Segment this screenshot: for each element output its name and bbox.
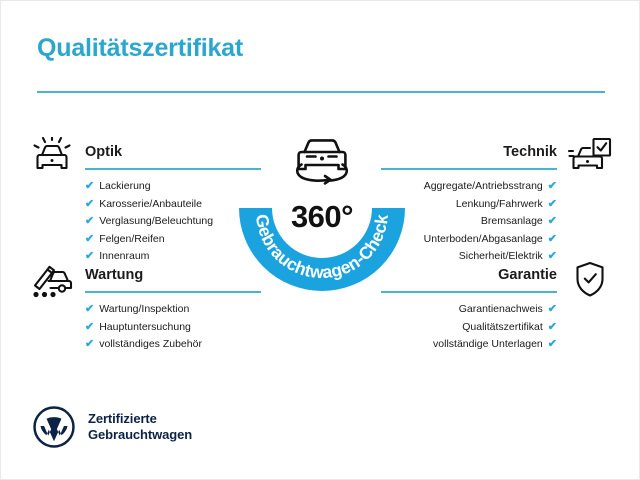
list-item: ✔vollständiges Zubehör	[29, 336, 261, 354]
list-item: ✔Lackierung	[29, 178, 261, 196]
list-item-label: vollständiges Zubehör	[99, 336, 202, 354]
vw-logo-icon	[33, 406, 75, 448]
check-icon: ✔	[548, 339, 557, 350]
check-icon: ✔	[85, 216, 94, 227]
list-item-label: Qualitätszertifikat	[462, 319, 543, 337]
check-icon: ✔	[85, 181, 94, 192]
check-icon: ✔	[85, 322, 94, 333]
list-item-label: Lenkung/Fahrwerk	[456, 196, 543, 214]
list-item-label: Sicherheit/Elektrik	[459, 248, 543, 266]
check-icon: ✔	[85, 304, 94, 315]
checklist-garantie: Garantienachweis✔ Qualitätszertifikat✔ v…	[381, 301, 613, 354]
section-title: Optik	[29, 141, 261, 163]
brand-line-2: Gebrauchtwagen	[88, 427, 192, 443]
check-icon: ✔	[548, 251, 557, 262]
check-icon: ✔	[85, 339, 94, 350]
list-item: ✔Hauptuntersuchung	[29, 319, 261, 337]
check-icon: ✔	[85, 251, 94, 262]
check-icon: ✔	[548, 181, 557, 192]
list-item: ✔Wartung/Inspektion	[29, 301, 261, 319]
list-item-label: Garantienachweis	[459, 301, 543, 319]
check-icon: ✔	[548, 322, 557, 333]
checklist-optik: ✔Lackierung ✔Karosserie/Anbauteile ✔Verg…	[29, 178, 261, 266]
list-item-label: Wartung/Inspektion	[99, 301, 189, 319]
list-item: Lenkung/Fahrwerk✔	[381, 196, 613, 214]
list-item: ✔Felgen/Reifen	[29, 231, 261, 249]
list-item-label: Hauptuntersuchung	[99, 319, 191, 337]
check-icon: ✔	[85, 199, 94, 210]
list-item-label: vollständige Unterlagen	[433, 336, 543, 354]
section-optik: Optik ✔Lackierung ✔Karosserie/Anbauteile…	[29, 141, 261, 266]
section-title: Wartung	[29, 264, 261, 286]
section-title: Technik	[381, 141, 613, 163]
list-item: Bremsanlage✔	[381, 213, 613, 231]
title-divider	[37, 91, 605, 93]
list-item-label: Bremsanlage	[481, 213, 543, 231]
certificate-page: Qualitätszertifikat Optik ✔Lackierung ✔K…	[0, 0, 640, 480]
list-item: Qualitätszertifikat✔	[381, 319, 613, 337]
check-icon: ✔	[548, 216, 557, 227]
list-item: Garantienachweis✔	[381, 301, 613, 319]
list-item-label: Karosserie/Anbauteile	[99, 196, 202, 214]
list-item-label: Lackierung	[99, 178, 150, 196]
header: Qualitätszertifikat	[37, 35, 605, 63]
list-item-label: Unterboden/Abgasanlage	[424, 231, 543, 249]
page-title: Qualitätszertifikat	[37, 35, 605, 63]
list-item: Aggregate/Antriebsstrang✔	[381, 178, 613, 196]
list-item: Unterboden/Abgasanlage✔	[381, 231, 613, 249]
section-header-wartung: Wartung	[29, 264, 261, 294]
section-garantie: Garantie Garantienachweis✔ Qualitätszert…	[381, 264, 613, 354]
list-item: vollständige Unterlagen✔	[381, 336, 613, 354]
section-wartung: Wartung ✔Wartung/Inspektion ✔Hauptunters…	[29, 264, 261, 354]
footer-brand: Zertifizierte Gebrauchtwagen	[33, 406, 192, 448]
list-item-label: Aggregate/Antriebsstrang	[424, 178, 543, 196]
list-item-label: Innenraum	[99, 248, 149, 266]
checklist-technik: Aggregate/Antriebsstrang✔ Lenkung/Fahrwe…	[381, 178, 613, 266]
check-icon: ✔	[548, 304, 557, 315]
list-item: ✔Verglasung/Beleuchtung	[29, 213, 261, 231]
check-icon: ✔	[548, 234, 557, 245]
checklist-wartung: ✔Wartung/Inspektion ✔Hauptuntersuchung ✔…	[29, 301, 261, 354]
check-icon: ✔	[85, 234, 94, 245]
section-technik: Technik Aggregate/Antriebsstrang✔ Lenkun…	[381, 141, 613, 266]
list-item-label: Verglasung/Beleuchtung	[99, 213, 213, 231]
badge-360-gebrauchtwagen-check: Gebrauchtwagen-Check 360°	[229, 119, 415, 305]
section-header-garantie: Garantie	[381, 264, 613, 294]
section-header-technik: Technik	[381, 141, 613, 171]
section-title: Garantie	[381, 264, 613, 286]
check-icon: ✔	[548, 199, 557, 210]
brand-line-1: Zertifizierte	[88, 411, 192, 427]
list-item: ✔Karosserie/Anbauteile	[29, 196, 261, 214]
brand-text: Zertifizierte Gebrauchtwagen	[88, 411, 192, 443]
section-header-optik: Optik	[29, 141, 261, 171]
list-item-label: Felgen/Reifen	[99, 231, 164, 249]
